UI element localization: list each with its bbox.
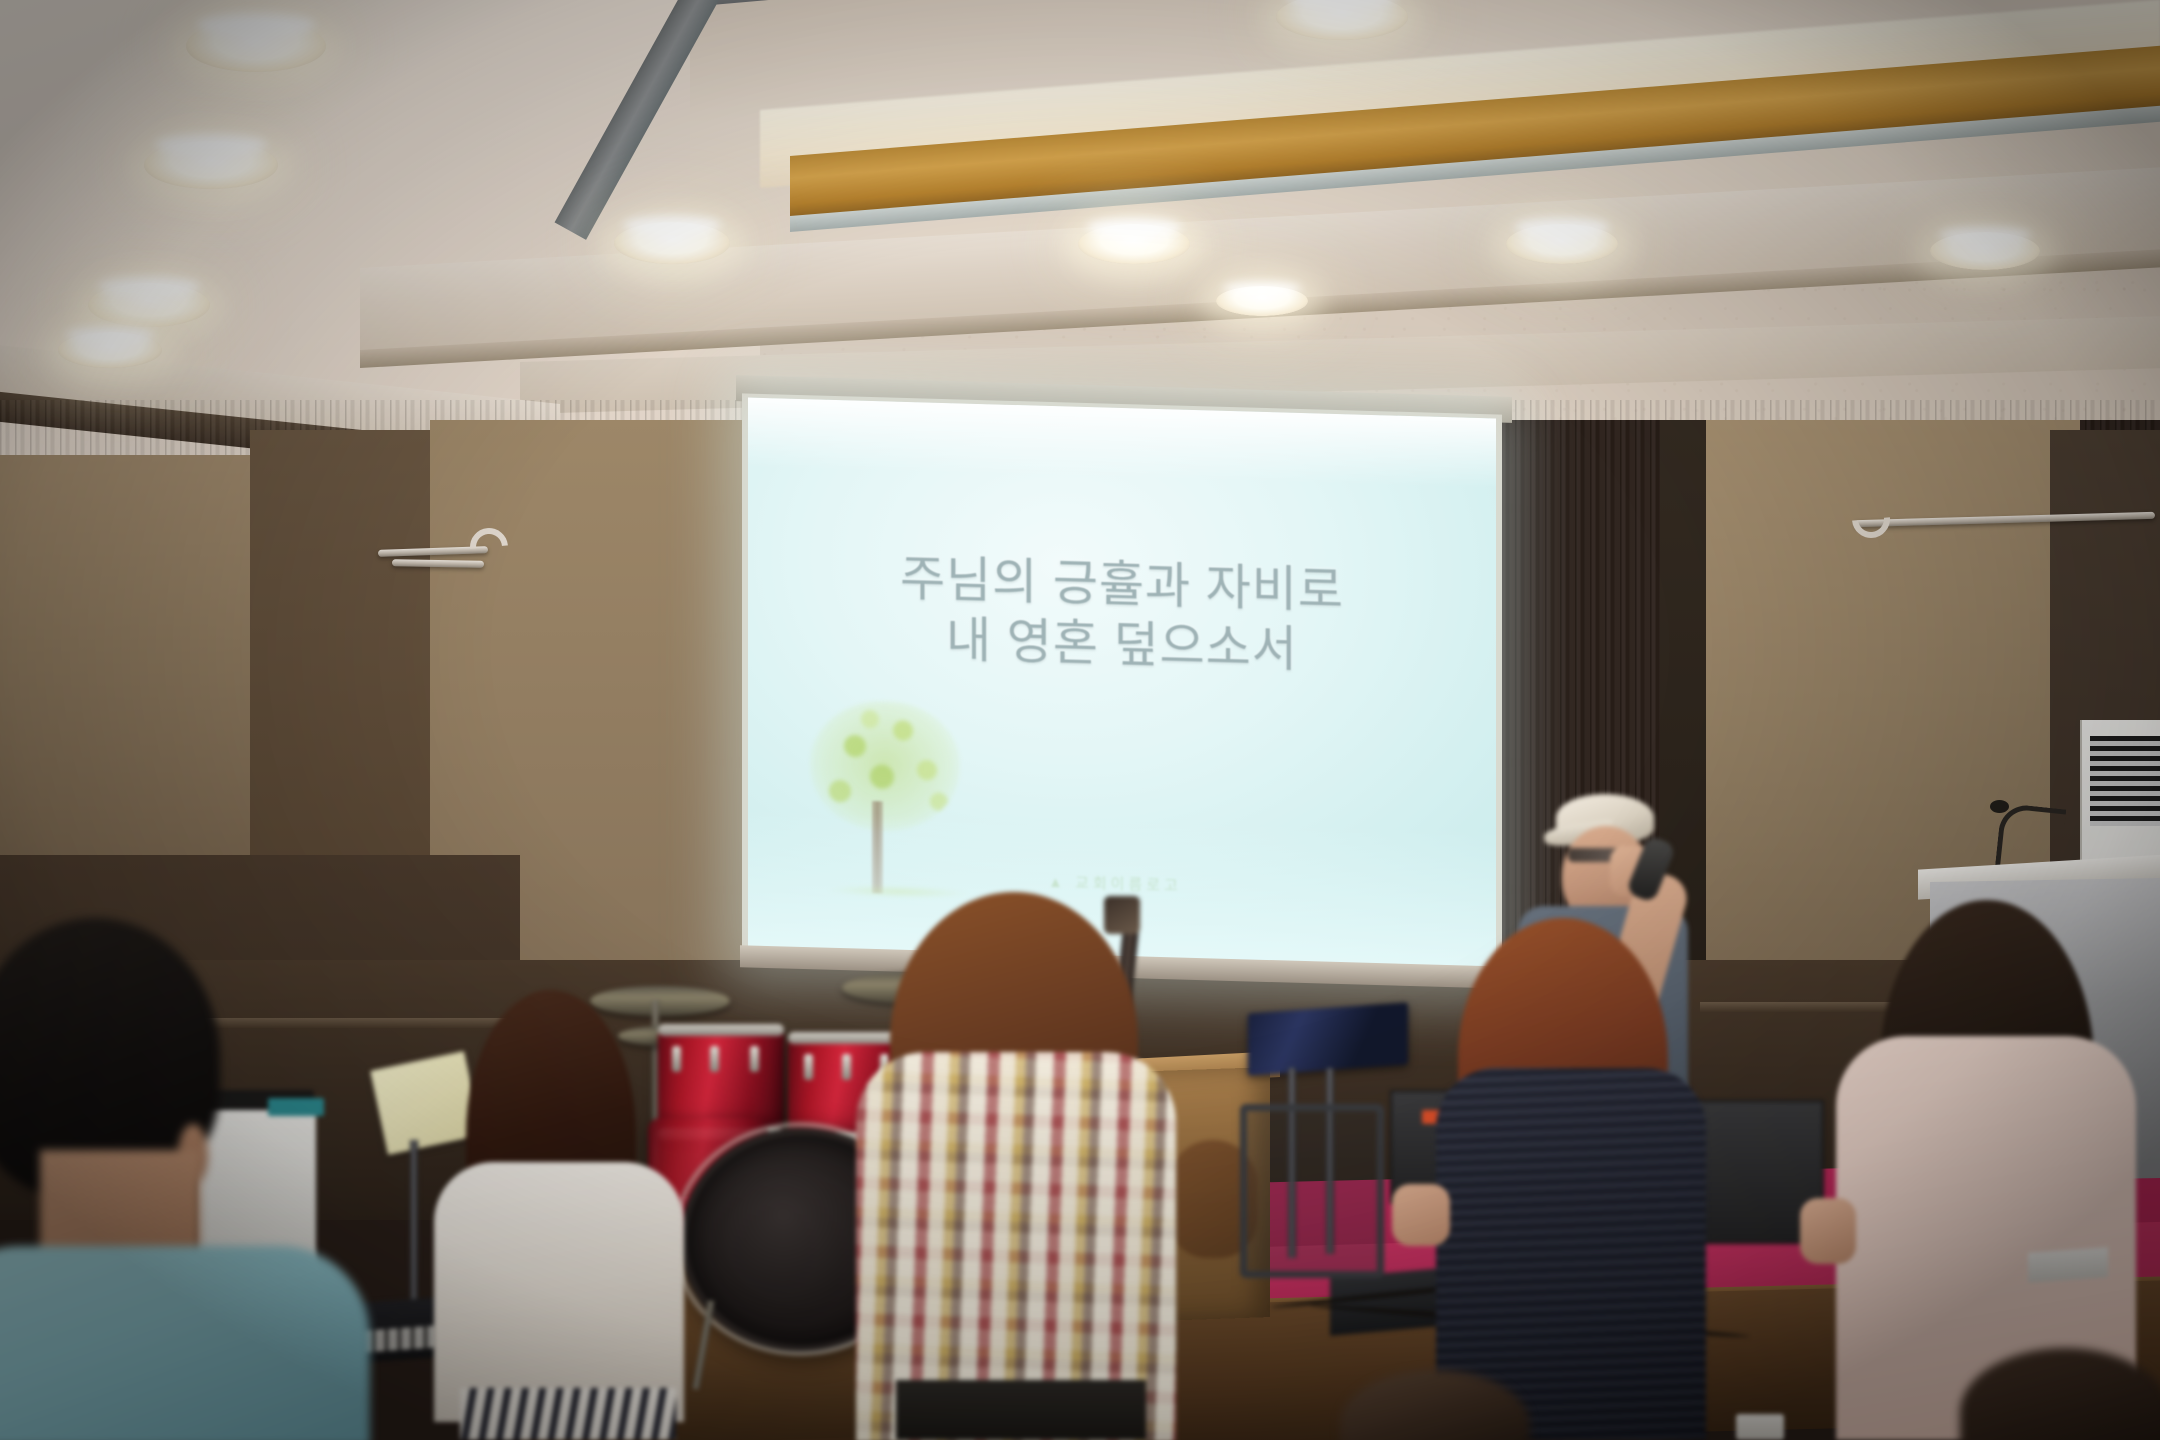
lectern-papers <box>2028 1247 2108 1283</box>
attendee-torso <box>434 1162 684 1422</box>
attendee-torso <box>0 1246 370 1440</box>
tom-lug <box>672 1046 681 1072</box>
paper-cup <box>1736 1414 1784 1440</box>
downlight-4 <box>58 332 162 368</box>
attendee-skirt <box>460 1388 676 1440</box>
attendee-trousers <box>896 1380 1146 1440</box>
photo-scene: 주님의 긍휼과 자비로 내 영혼 덮으소서 ▲ 교회이름로고 <box>0 0 2160 1440</box>
downlight-1 <box>186 20 326 72</box>
tom-lug <box>804 1054 813 1080</box>
guitar-headstock <box>1104 896 1140 934</box>
attendee-hand <box>1800 1198 1856 1264</box>
music-stand-left-pole <box>410 1140 418 1320</box>
music-stand-center-head <box>1248 1002 1408 1075</box>
downlight-9 <box>1216 286 1308 316</box>
downlight-6 <box>1078 224 1190 264</box>
crash-cymbal-left <box>590 986 730 1016</box>
slide-lyrics: 주님의 긍휼과 자비로 내 영혼 덮으소서 <box>748 546 1496 686</box>
downlight-5 <box>614 222 730 264</box>
projection-screen: 주님의 긍휼과 자비로 내 영혼 덮으소서 ▲ 교회이름로고 <box>748 398 1496 981</box>
downlight-8 <box>1506 224 1618 264</box>
tom-lug <box>750 1046 759 1072</box>
downlight-2 <box>144 141 278 189</box>
downlight-10 <box>1930 232 2040 270</box>
tom-lug <box>710 1046 719 1072</box>
gooseneck-mic-head <box>1990 800 2009 813</box>
attendee-hand <box>1392 1184 1450 1246</box>
stage-chair <box>1240 1104 1384 1278</box>
teal-folder <box>268 1098 324 1116</box>
downlight-3 <box>88 283 210 327</box>
air-conditioner-grill <box>2090 736 2160 826</box>
tom-lug <box>842 1054 851 1080</box>
tom-rim-top <box>658 1024 784 1036</box>
